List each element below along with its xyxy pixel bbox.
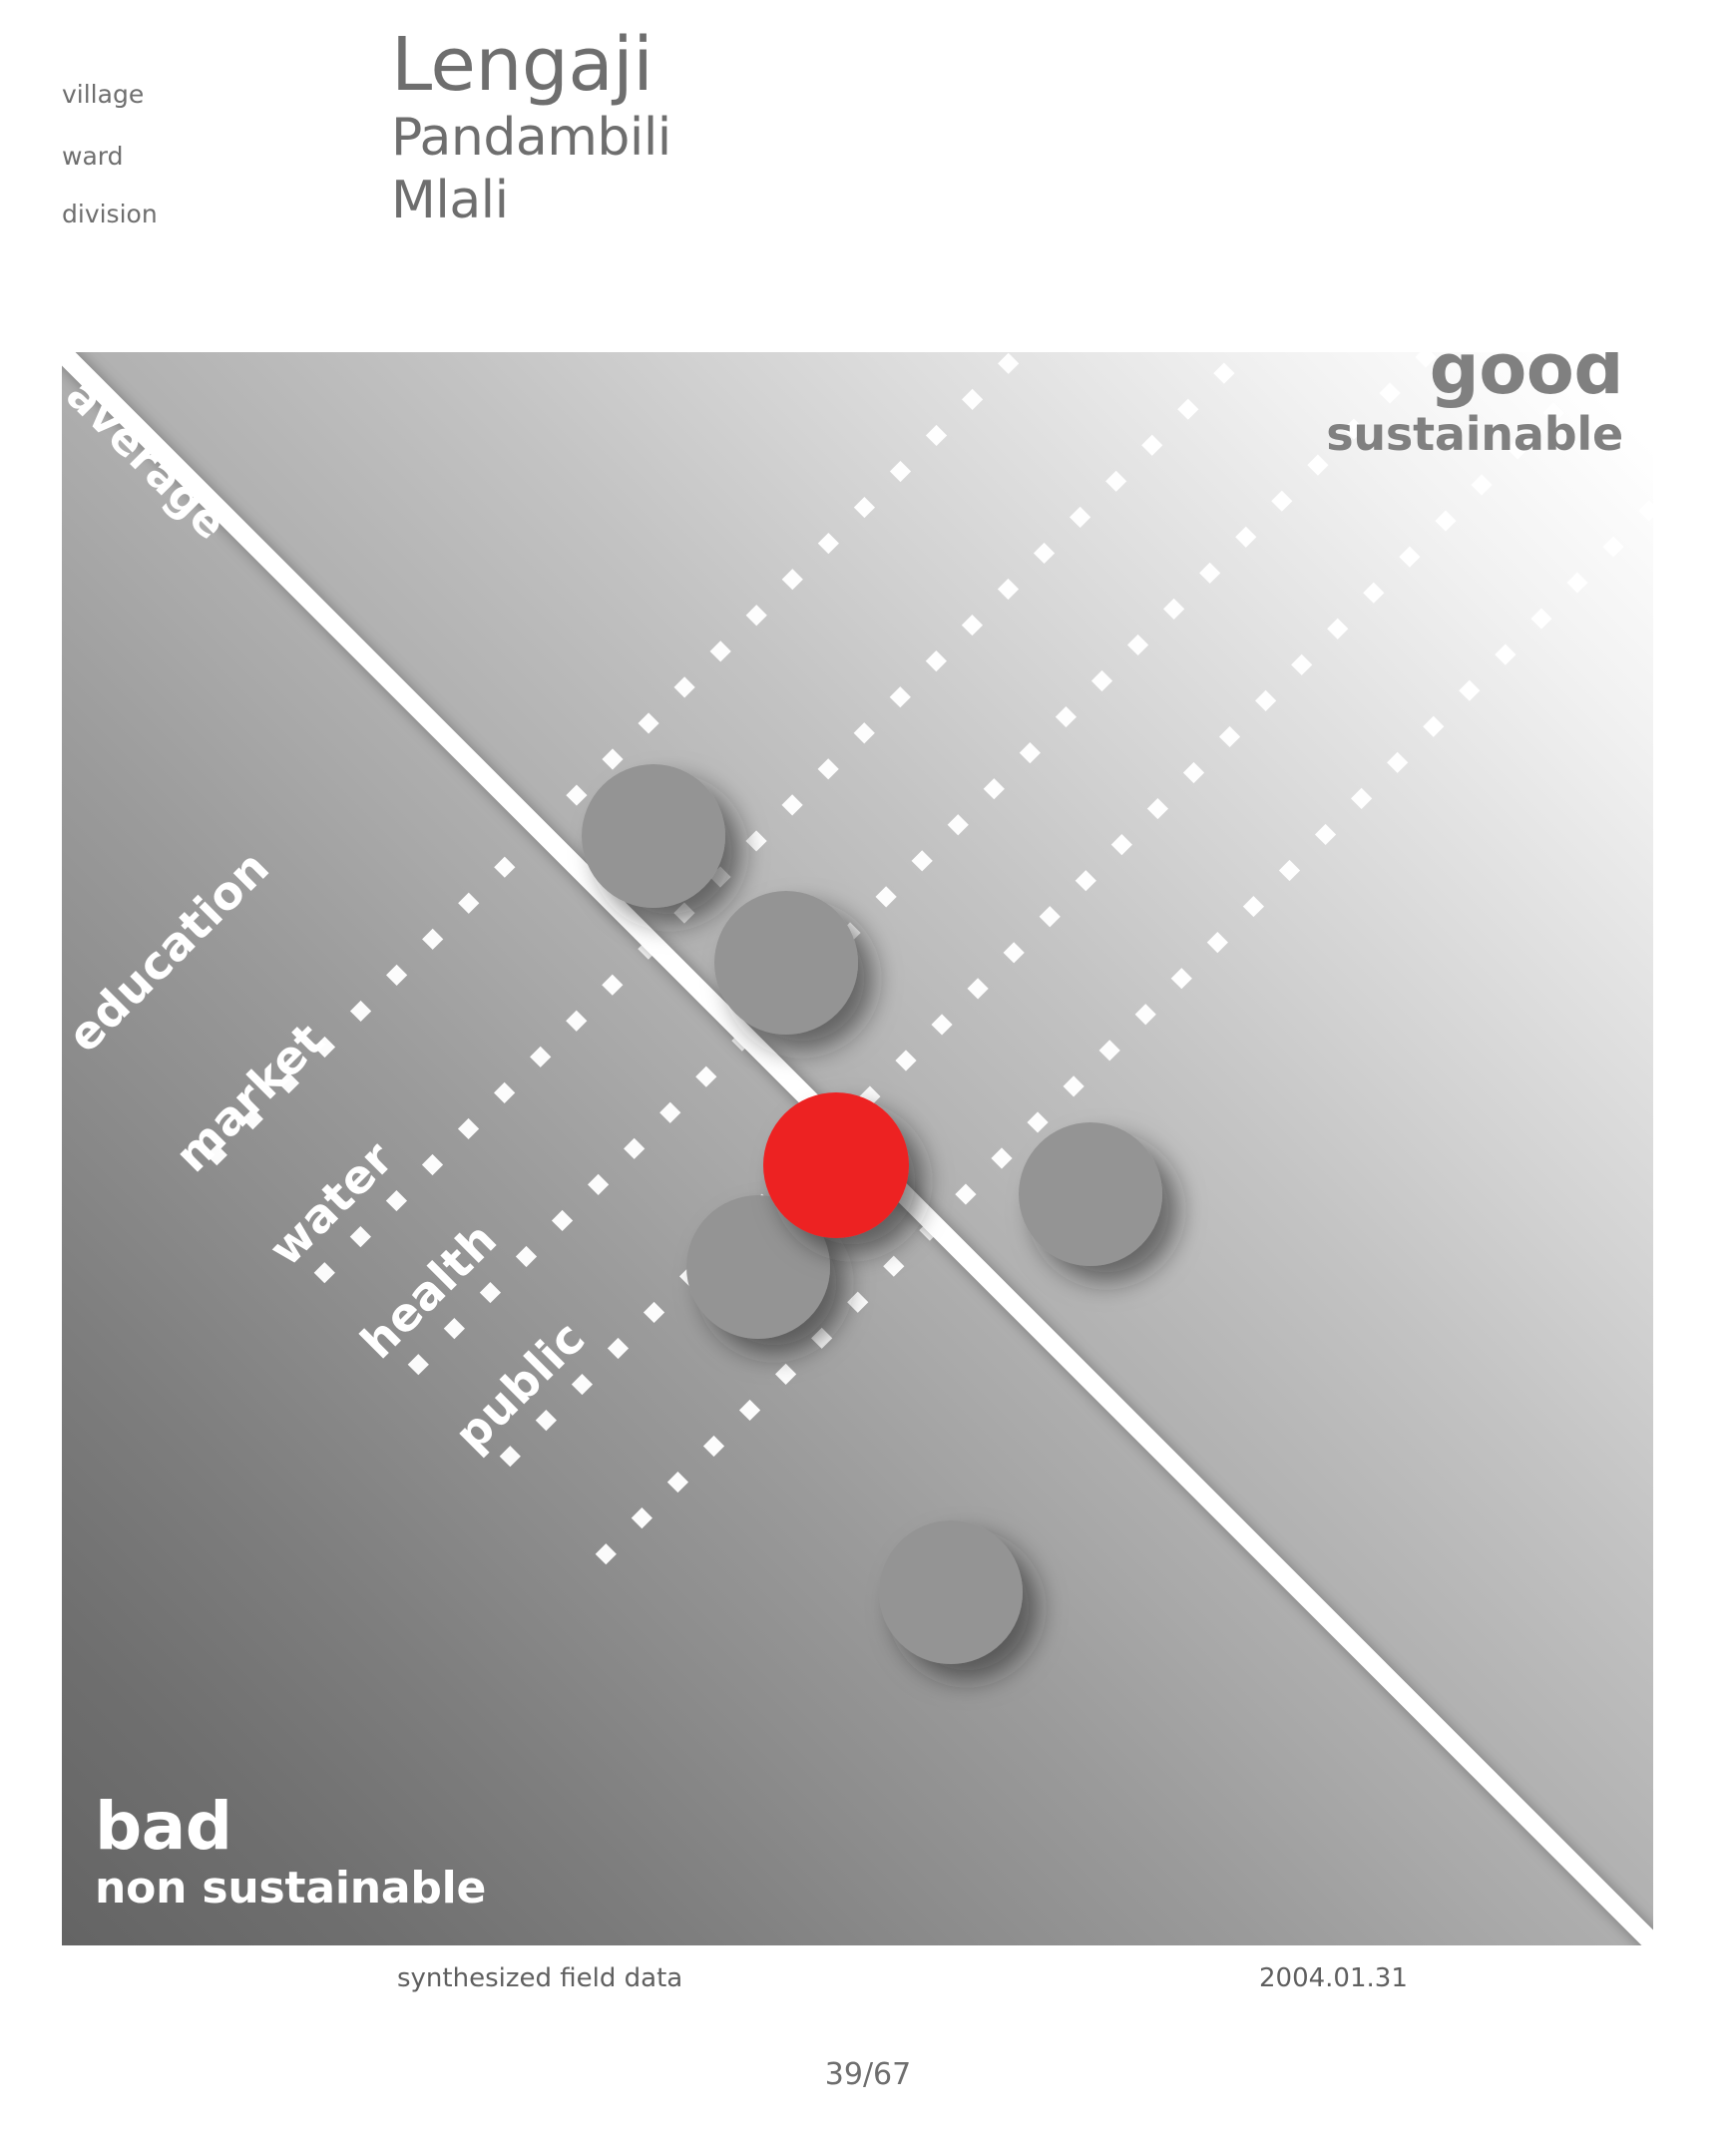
header-value-ward: Pandambili [391, 112, 671, 164]
bad-title: bad [95, 1790, 486, 1864]
marker-gray-2 [714, 891, 858, 1035]
page-number: 39/67 [0, 2057, 1736, 2092]
marker-gray-4 [1019, 1122, 1162, 1266]
marker-highlight-red [763, 1092, 909, 1238]
header-key-division: division [62, 200, 158, 228]
quality-label-bad: bad non sustainable [95, 1790, 486, 1914]
sustainability-chart-panel: average education market water health pu… [62, 352, 1653, 1945]
header-key-ward: ward [62, 142, 123, 171]
good-title: good [1326, 352, 1623, 408]
dotted-axis-health [505, 378, 1588, 1462]
bad-subtitle: non sustainable [95, 1864, 486, 1914]
quality-label-good: good sustainable [1326, 352, 1623, 460]
chart-graphics-layer [62, 352, 1653, 1945]
marker-gray-5 [879, 1520, 1023, 1664]
footer-date: 2004.01.31 [1259, 1963, 1408, 1993]
header-key-village: village [62, 80, 144, 109]
header-value-division: Mlali [391, 175, 509, 226]
marker-gray-1 [582, 764, 725, 908]
dotted-axis-education [212, 352, 1209, 1160]
marker-group [582, 764, 1162, 1664]
header-value-village: Lengaji [391, 28, 652, 102]
document-header: village ward division Lengaji Pandambili… [0, 0, 1736, 279]
good-subtitle: sustainable [1326, 408, 1623, 460]
document-footer: synthesized field data 2004.01.31 [0, 1953, 1736, 2023]
footer-source-note: synthesized field data [397, 1963, 682, 1993]
